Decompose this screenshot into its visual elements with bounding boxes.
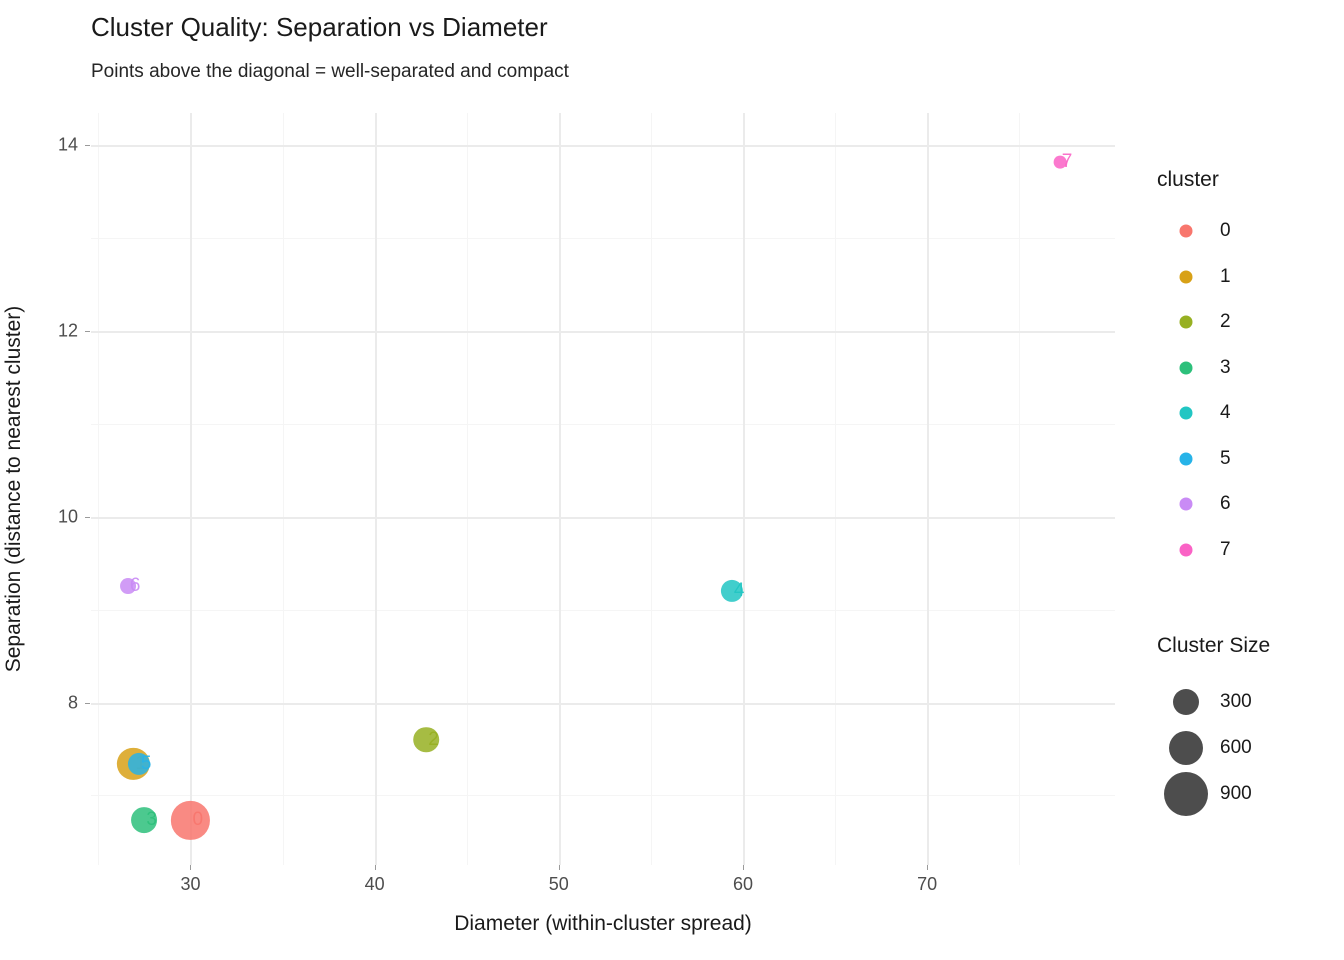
y-tick-mark xyxy=(85,145,90,146)
color-legend-key[interactable] xyxy=(1180,407,1193,420)
y-axis-title: Separation (distance to nearest cluster) xyxy=(2,306,26,673)
data-point-label: 6 xyxy=(130,575,141,597)
y-tick-label: 8 xyxy=(68,692,78,713)
color-legend-label: 0 xyxy=(1220,220,1231,242)
gridline-minor-vertical xyxy=(651,113,652,865)
gridline-major-horizontal xyxy=(91,703,1115,705)
data-point-label: 3 xyxy=(146,809,157,831)
data-point-label: 5 xyxy=(141,753,152,775)
gridline-major-horizontal xyxy=(91,145,1115,147)
size-legend-key[interactable] xyxy=(1164,772,1208,816)
size-legend-label: 600 xyxy=(1220,737,1252,759)
x-tick-mark xyxy=(559,865,560,870)
x-tick-label: 70 xyxy=(917,874,937,895)
color-legend-label: 2 xyxy=(1220,311,1231,333)
gridline-minor-vertical xyxy=(98,113,99,865)
chart-title: Cluster Quality: Separation vs Diameter xyxy=(91,12,548,43)
size-legend-label: 900 xyxy=(1220,783,1252,805)
x-tick-mark xyxy=(743,865,744,870)
x-tick-mark xyxy=(927,865,928,870)
color-legend-key[interactable] xyxy=(1180,270,1193,283)
x-tick-label: 40 xyxy=(365,874,385,895)
y-tick-mark xyxy=(85,331,90,332)
gridline-minor-vertical xyxy=(1019,113,1020,865)
x-tick-mark xyxy=(375,865,376,870)
color-legend-key[interactable] xyxy=(1180,452,1193,465)
color-legend-label: 4 xyxy=(1220,402,1231,424)
size-legend-key[interactable] xyxy=(1173,689,1199,715)
color-legend-key[interactable] xyxy=(1180,225,1193,238)
y-tick-mark xyxy=(85,517,90,518)
color-legend-key[interactable] xyxy=(1180,543,1193,556)
color-legend-label: 3 xyxy=(1220,357,1231,379)
x-tick-label: 30 xyxy=(180,874,200,895)
y-tick-label: 10 xyxy=(58,506,78,527)
color-legend-label: 7 xyxy=(1220,539,1231,561)
y-tick-label: 14 xyxy=(58,135,78,156)
color-legend-title: cluster xyxy=(1157,168,1219,192)
gridline-minor-horizontal xyxy=(91,610,1115,611)
x-axis-title: Diameter (within-cluster spread) xyxy=(454,912,752,936)
gridline-minor-vertical xyxy=(283,113,284,865)
color-legend-key[interactable] xyxy=(1180,316,1193,329)
color-legend-label: 5 xyxy=(1220,448,1231,470)
plot-panel xyxy=(91,113,1115,865)
x-tick-mark xyxy=(190,865,191,870)
gridline-minor-vertical xyxy=(467,113,468,865)
y-tick-label: 12 xyxy=(58,321,78,342)
color-legend-label: 1 xyxy=(1220,266,1231,288)
size-legend-label: 300 xyxy=(1220,691,1252,713)
gridline-major-horizontal xyxy=(91,517,1115,519)
gridline-minor-horizontal xyxy=(91,238,1115,239)
gridline-major-horizontal xyxy=(91,331,1115,333)
gridline-minor-horizontal xyxy=(91,795,1115,796)
color-legend-key[interactable] xyxy=(1180,498,1193,511)
x-tick-label: 50 xyxy=(549,874,569,895)
gridline-major-vertical xyxy=(743,113,745,865)
gridline-major-vertical xyxy=(559,113,561,865)
data-point-label: 7 xyxy=(1062,151,1073,173)
x-tick-label: 60 xyxy=(733,874,753,895)
chart-subtitle: Points above the diagonal = well-separat… xyxy=(91,61,569,83)
gridline-major-vertical xyxy=(375,113,377,865)
data-point-label: 4 xyxy=(734,580,745,602)
data-point-label: 0 xyxy=(192,809,203,831)
color-legend-label: 6 xyxy=(1220,493,1231,515)
color-legend-key[interactable] xyxy=(1180,361,1193,374)
size-legend-title: Cluster Size xyxy=(1157,634,1270,658)
y-tick-mark xyxy=(85,703,90,704)
gridline-major-vertical xyxy=(927,113,929,865)
gridline-major-vertical xyxy=(190,113,192,865)
size-legend-key[interactable] xyxy=(1169,731,1203,765)
gridline-minor-vertical xyxy=(835,113,836,865)
gridline-minor-horizontal xyxy=(91,424,1115,425)
data-point-label: 2 xyxy=(428,729,439,751)
